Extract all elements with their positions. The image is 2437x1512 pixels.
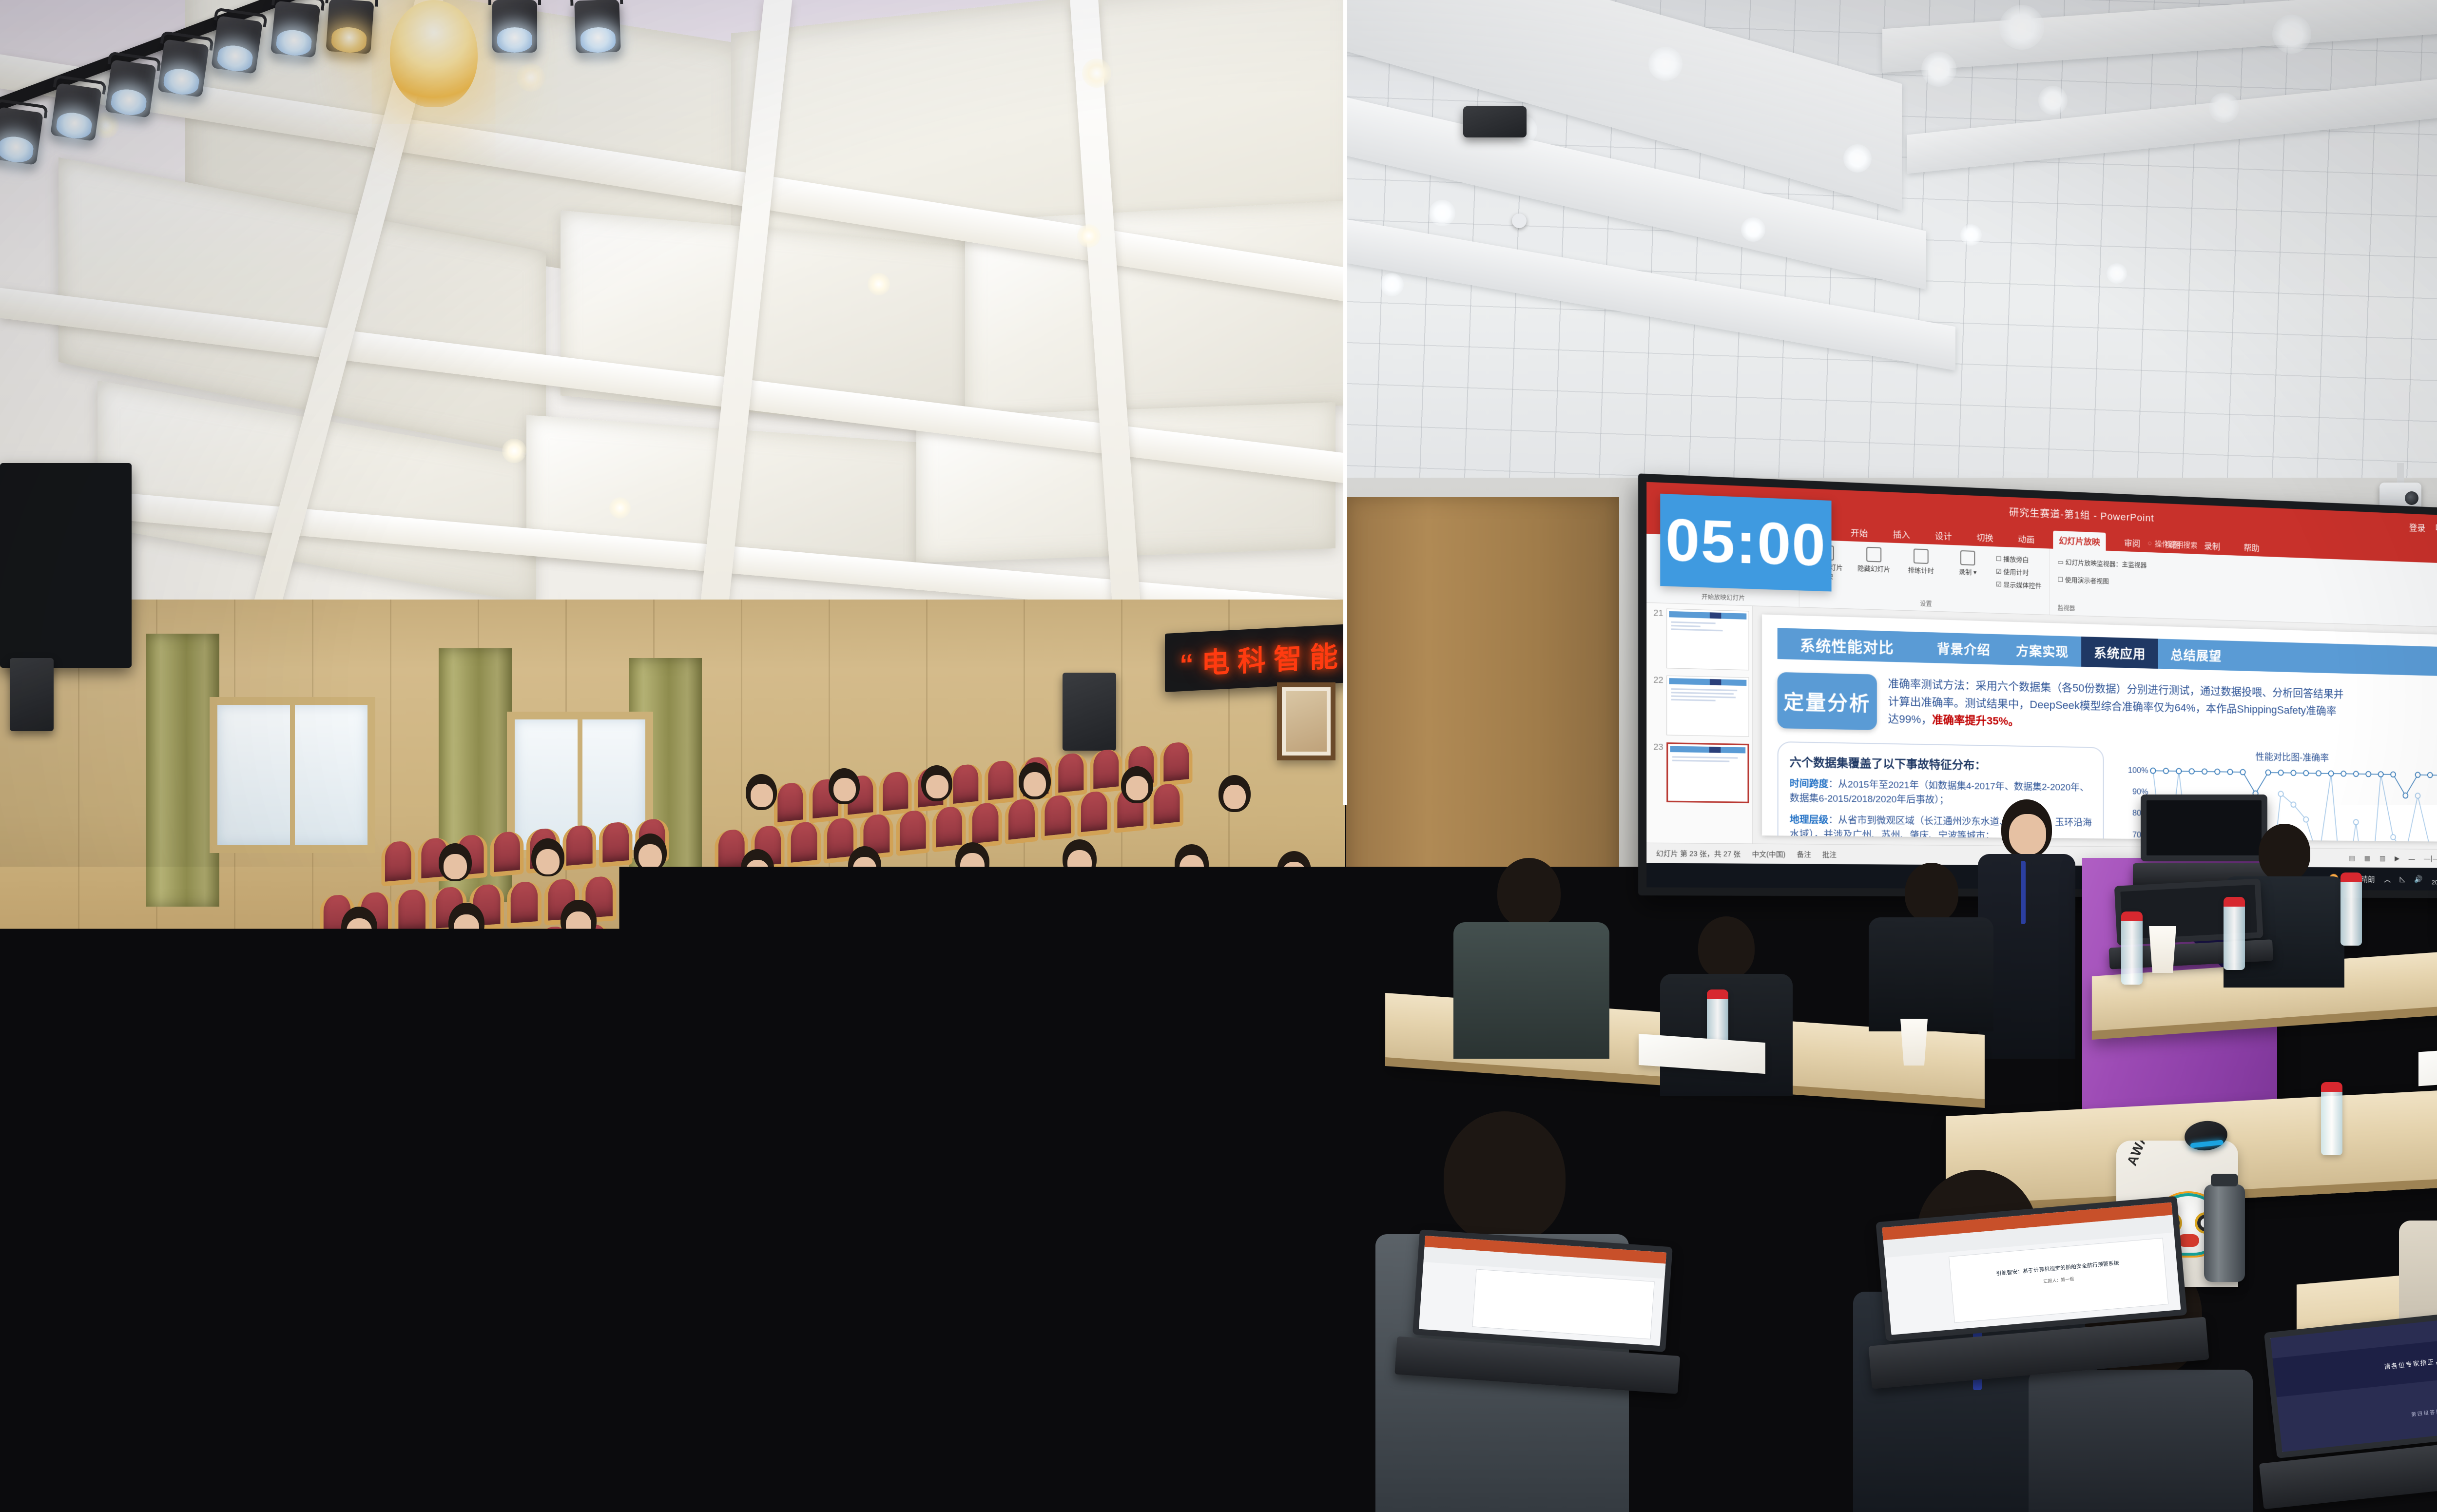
use-presenter-view-checkbox[interactable]: ☐ 使用演示者视图 xyxy=(2058,574,2147,586)
water-bottle xyxy=(863,1153,880,1211)
seminar-ceiling xyxy=(1346,0,2437,507)
checkbox-icon: ☑ xyxy=(1996,581,2002,588)
slide-nav-title: 系统性能对比 xyxy=(1787,633,1924,659)
stage-light xyxy=(211,16,263,74)
ribbon-group-label: 设置 xyxy=(1920,599,1932,608)
water-bottle xyxy=(195,1086,213,1144)
countdown-timer: -01:47 xyxy=(1050,1124,1108,1152)
hero-accuracy-gain: 准确率提升35%。 xyxy=(1932,714,2019,728)
thanks-slide-text: 恳请各位老师批评指正！ xyxy=(1047,1147,1331,1230)
lightbulb-icon: ◌ xyxy=(2147,539,2152,547)
record-slideshow-button[interactable]: 录制 ▾ xyxy=(1950,550,1986,577)
status-slide-count: 幻灯片 第 23 张，共 27 张 xyxy=(1656,848,1741,859)
stage-light xyxy=(574,0,621,54)
microphone-indicator xyxy=(281,1015,287,1021)
slide-editing-pane[interactable]: 系统性能对比 背景介绍 方案实现 系统应用 总结展望 定量分析 准确率测试方法：… xyxy=(1753,606,2437,849)
slideshow-monitor-select[interactable]: ▭ 幻灯片放映监视器：主监视器 xyxy=(2058,557,2147,569)
laptop-screen: -01:47 恳请各位老师批评指正！ 汇报人： 第一组 指导老师： 张老师 李老… xyxy=(1045,1102,1333,1266)
water-bottle xyxy=(393,1105,410,1163)
quantitative-analysis-chip: 定量分析 xyxy=(1778,672,1877,730)
stage-light xyxy=(157,39,209,97)
seated-attendee xyxy=(1444,858,1619,1053)
tab-transitions[interactable]: 切换 xyxy=(1971,527,1999,547)
slide-section-nav: 系统性能对比 背景介绍 方案实现 系统应用 总结展望 xyxy=(1778,628,2437,677)
ribbon-group-monitors: ▭ 幻灯片放映监视器：主监视器 ☐ 使用演示者视图 监视器 xyxy=(2050,549,2437,628)
led-scrolling-banner: “电科智能杯”第五届上海 xyxy=(1165,624,1345,692)
status-comments-button[interactable]: 批注 xyxy=(1822,849,1837,859)
slide-thumbnail-pane[interactable]: 21 22 23 xyxy=(1646,603,1753,844)
slide-nav-item-application: 系统应用 xyxy=(2081,637,2158,669)
slide-nav-item-summary: 总结展望 xyxy=(2158,645,2234,665)
judge-nameplate: 评委 xyxy=(273,1133,337,1185)
tab-design[interactable]: 设计 xyxy=(1929,526,1958,545)
jacket-wordmark: AWAKENED xyxy=(2124,1141,2171,1168)
slide-thumbnail[interactable]: 21 xyxy=(1650,608,1749,670)
dataset-card-title: 六个数据集覆盖了以下事故特征分布： xyxy=(1790,753,2092,774)
chart-title: 性能对比图-准确率 xyxy=(2116,747,2437,766)
tab-review[interactable]: 审阅 xyxy=(2118,533,2146,552)
wall-speaker xyxy=(10,658,54,731)
slide-hero-paragraph: 准确率测试方法：采用六个数据集（各50份数据）分别进行测试，通过数据投喂、分析回… xyxy=(1888,675,2437,739)
view-reading-icon[interactable]: ▥ xyxy=(2379,854,2385,863)
water-bottle xyxy=(2224,897,2245,970)
status-language: 中文(中国) xyxy=(1752,849,1786,859)
stage-light xyxy=(50,83,102,141)
tell-me-search[interactable]: ◌ 操作说明搜索 xyxy=(2147,538,2197,550)
water-bottle xyxy=(2340,872,2362,946)
judge-nameplate-label: 评委 xyxy=(739,1186,788,1220)
ceiling-projector xyxy=(1463,106,1527,137)
current-slide: 系统性能对比 背景介绍 方案实现 系统应用 总结展望 定量分析 准确率测试方法：… xyxy=(1762,614,2437,842)
microphone-indicator xyxy=(744,1057,750,1063)
right-photo-seminar-room: 福 研究生赛道-第1组 - PowerPoint 登录 ⊡ — ✕ 文件 xyxy=(1346,0,2437,1512)
weather-text: 晴朗 xyxy=(2361,874,2375,884)
checkbox-icon: ☐ xyxy=(2058,576,2064,583)
tab-help[interactable]: 帮助 xyxy=(2238,538,2265,556)
panel-divider xyxy=(1343,0,1347,1512)
dome-camera xyxy=(1512,213,1527,228)
tab-animations[interactable]: 动画 xyxy=(2012,529,2040,548)
monitor-icon: ▭ xyxy=(2058,558,2064,565)
slide-thumbnail[interactable]: 22 xyxy=(1650,675,1749,737)
judge-person-body xyxy=(235,1002,356,1133)
water-bottle xyxy=(10,1072,27,1130)
left-photo-auditorium: “电科智能杯”第五届上海 xyxy=(0,0,1345,1512)
wall-artwork xyxy=(1277,682,1335,760)
microphone-indicator xyxy=(100,997,106,1003)
restore-button[interactable]: ⊡ xyxy=(2436,523,2437,535)
signin-button[interactable]: 登录 xyxy=(2409,521,2425,534)
checkbox-icon: ☑ xyxy=(1996,568,2002,576)
tab-record[interactable]: 录制 xyxy=(2198,536,2225,555)
hide-slide-button[interactable]: 隐藏幻灯片 xyxy=(1855,546,1892,574)
presenter-laptop: -01:47 恳请各位老师批评指正！ 汇报人： 第一组 指导老师： 张老师 李老… xyxy=(1024,1097,1345,1326)
judge-nameplate-label: 评委 xyxy=(96,1125,144,1160)
status-notes-button[interactable]: 备注 xyxy=(1797,849,1811,859)
document-title: 研究生赛道-第1组 - PowerPoint xyxy=(2009,504,2154,524)
seated-attendee xyxy=(2433,790,2437,946)
stopwatch-icon xyxy=(1914,548,1929,564)
view-sorter-icon[interactable]: ▦ xyxy=(2364,854,2370,862)
audience-laptop-ppt[interactable]: 引航智安：基于计算机视觉的船舶安全航行预警系统 汇报人：第一组 xyxy=(1876,1196,2191,1388)
water-bottle xyxy=(2321,1082,2342,1155)
wall-display xyxy=(0,463,132,668)
play-narrations-checkbox[interactable]: ☐ 播放旁白 xyxy=(1996,554,2042,564)
audience-laptop-dark[interactable]: 请各位专家指正，谢谢！ 第 四 组 答 辩 人 xyxy=(2264,1300,2437,1508)
network-icon[interactable]: ◺ xyxy=(2400,875,2405,883)
water-bottle xyxy=(2121,911,2143,985)
tab-home[interactable]: 开始 xyxy=(1845,523,1874,542)
tab-slideshow[interactable]: 幻灯片放映 xyxy=(2053,531,2106,551)
judge-nameplate: 评委 xyxy=(483,1153,547,1206)
hide-slide-icon xyxy=(1866,547,1881,562)
wall-speaker xyxy=(1063,673,1116,751)
show-hidden-icons-chevron-up-icon[interactable]: ︿ xyxy=(2384,874,2391,884)
thermos-bottle xyxy=(2204,1184,2245,1282)
judge-nameplate: 评委 xyxy=(88,1116,152,1169)
judge-nameplate: 评委 xyxy=(731,1177,795,1229)
volume-icon[interactable]: 🔊 xyxy=(2414,875,2422,884)
dark-slide-text: 请各位专家指正，谢谢！ xyxy=(2383,1354,2437,1371)
microphone-indicator xyxy=(978,1081,984,1087)
slide-nav-item-implementation: 方案实现 xyxy=(2003,640,2081,660)
record-icon xyxy=(1960,550,1975,565)
judge-person-body xyxy=(393,1009,521,1145)
judge-nameplate-label: 评委 xyxy=(490,1163,539,1197)
ribbon-group-setup: 设置幻灯片放映 隐藏幻灯片 排练计时 xyxy=(1799,540,2050,615)
stage-light xyxy=(326,0,374,54)
presentation-countdown-overlay: 05:00 xyxy=(1660,494,1831,592)
stage-light xyxy=(105,59,156,118)
stage-light xyxy=(492,0,537,53)
led-banner-text: “电科智能杯”第五届上海 xyxy=(1180,624,1345,682)
judge-nameplate-label: 评委 xyxy=(281,1142,329,1176)
ribbon-group-label: 监视器 xyxy=(2058,603,2075,612)
ribbon-group-label: 开始放映幻灯片 xyxy=(1702,592,1745,602)
pendant-lamp xyxy=(390,0,478,107)
stage-light xyxy=(0,107,43,165)
microphone-indicator xyxy=(490,1033,496,1039)
hero-line-3: 达99%， xyxy=(1888,713,1932,726)
tab-insert[interactable]: 插入 xyxy=(1887,524,1916,544)
judge-person-body xyxy=(741,1045,873,1186)
slide-thumbnail-active[interactable]: 23 xyxy=(1650,742,1749,803)
audience-laptop[interactable] xyxy=(1410,1229,1673,1393)
checkbox-icon: ☐ xyxy=(1996,555,2002,563)
notebook xyxy=(2418,1044,2437,1086)
slide-nav-item-background: 背景介绍 xyxy=(1924,638,2003,659)
show-media-controls-checkbox[interactable]: ☑ 显示媒体控件 xyxy=(1996,579,2042,590)
zoom-out-button[interactable]: — xyxy=(2409,855,2415,863)
tell-me-label: 操作说明搜索 xyxy=(2155,539,2198,550)
view-slideshow-icon[interactable]: ▶ xyxy=(2395,854,2399,863)
use-timings-checkbox[interactable]: ☑ 使用计时 xyxy=(1996,566,2042,577)
composite-screenshot: “电科智能杯”第五届上海 xyxy=(0,0,2437,1512)
water-bottle xyxy=(616,1125,634,1182)
seated-attendee xyxy=(1863,863,1999,1028)
stage-light xyxy=(271,0,321,58)
svg-text:100%: 100% xyxy=(2128,766,2148,775)
rehearse-timings-button[interactable]: 排练计时 xyxy=(1902,548,1939,576)
